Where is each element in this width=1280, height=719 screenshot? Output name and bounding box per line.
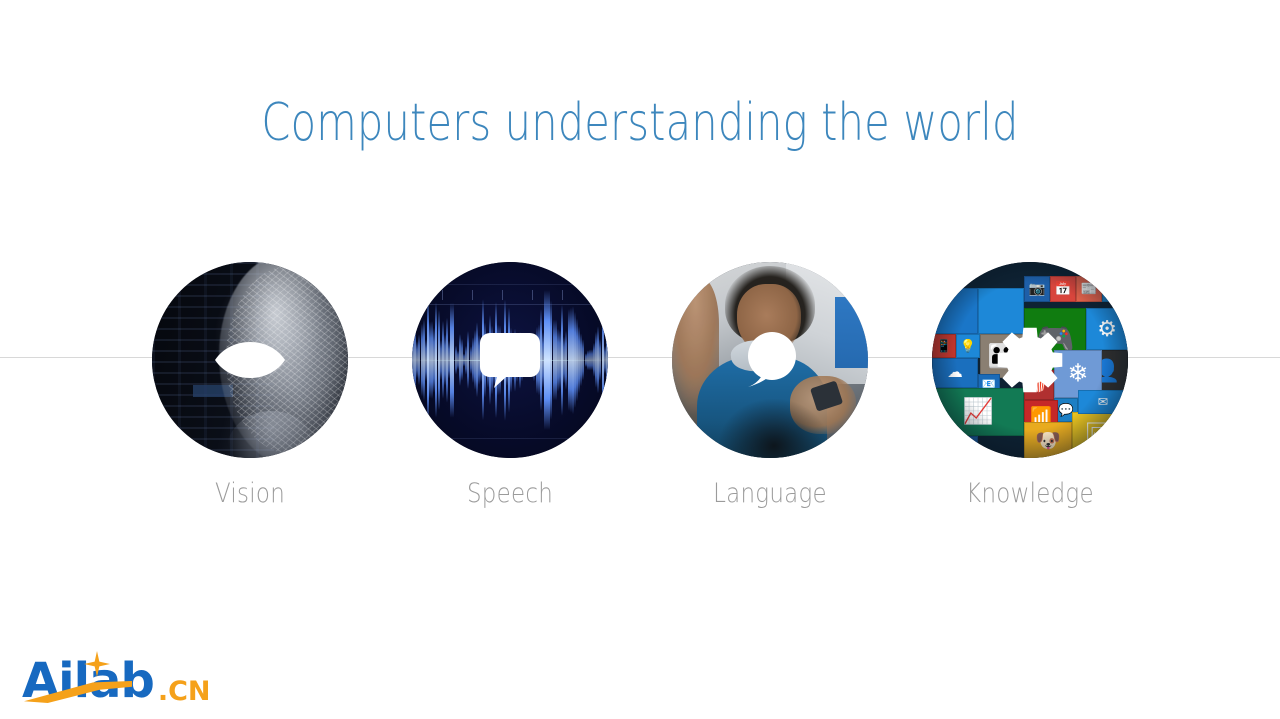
watermark-suffix: .CN [158, 678, 211, 707]
speech-bubble-icon [478, 331, 542, 389]
capability-label-vision: Vision [167, 478, 334, 509]
capability-label-speech: Speech [427, 478, 594, 509]
vision-circle-image[interactable] [152, 262, 348, 458]
knowledge-circle-image[interactable]: 📷📅📰📄📱💡👪☁📧🎮⚙👤🍿❄💬📈📘📶🐶🖼✉ [932, 262, 1128, 458]
background-blue-panel [835, 297, 868, 368]
page-title: Computers understanding the world [128, 93, 1152, 153]
waveform-bar [606, 329, 608, 390]
capability-item-knowledge[interactable]: 📷📅📰📄📱💡👪☁📧🎮⚙👤🍿❄💬📈📘📶🐶🖼✉ Knowledge [932, 262, 1128, 509]
round-speech-bubble-icon [742, 330, 798, 390]
language-circle-image[interactable] [672, 262, 868, 458]
capability-item-language[interactable]: Language [672, 262, 868, 509]
watermark-logo: Ailab .CN [22, 655, 210, 707]
capability-label-language: Language [687, 478, 854, 509]
capability-label-knowledge: Knowledge [947, 478, 1114, 509]
gear-icon [995, 325, 1065, 395]
slide-canvas: Computers understanding the world Vision [0, 0, 1280, 719]
capability-item-speech[interactable]: Speech [412, 262, 608, 509]
eye-icon [213, 334, 287, 386]
capability-row: Vision Speech [0, 262, 1280, 522]
foreground-shadow [719, 399, 829, 458]
capability-item-vision[interactable]: Vision [152, 262, 348, 509]
speech-circle-image[interactable] [412, 262, 608, 458]
